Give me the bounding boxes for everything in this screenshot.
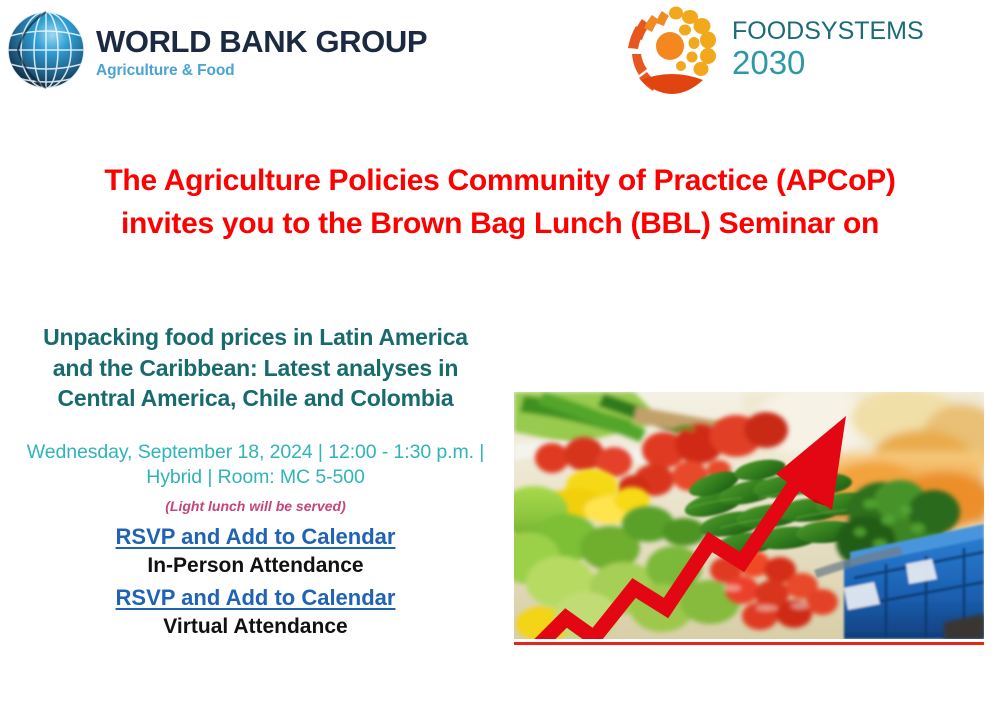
header-logos: WORLD BANK GROUP Agriculture & Food <box>0 0 1000 112</box>
rsvp-link-in-person[interactable]: RSVP and Add to Calendar <box>8 524 503 551</box>
seminar-title: Unpacking food prices in Latin America a… <box>8 322 503 414</box>
world-bank-globe-icon <box>4 6 88 94</box>
world-bank-group-logo: WORLD BANK GROUP Agriculture & Food <box>4 6 427 94</box>
headline-line-2: invites you to the Brown Bag Lunch (BBL)… <box>0 203 1000 246</box>
rsvp-option-virtual: RSVP and Add to Calendar Virtual Attenda… <box>8 585 503 640</box>
world-bank-title: WORLD BANK GROUP <box>96 26 427 57</box>
seminar-details: Unpacking food prices in Latin America a… <box>8 322 503 640</box>
market-vegetables-rising-price-arrow-photo <box>514 392 984 645</box>
rsvp-link-virtual[interactable]: RSVP and Add to Calendar <box>8 585 503 612</box>
rsvp-option-in-person: RSVP and Add to Calendar In-Person Atten… <box>8 524 503 579</box>
rsvp-caption-in-person: In-Person Attendance <box>8 552 503 579</box>
foodsystems-2030-logo: FoodSystems 2030 <box>622 4 924 100</box>
headline-line-1: The Agriculture Policies Community of Pr… <box>0 160 1000 203</box>
seminar-logistics: Wednesday, September 18, 2024 | 12:00 - … <box>8 440 503 491</box>
world-bank-wordmark: WORLD BANK GROUP Agriculture & Food <box>96 22 427 79</box>
foodsystems-wordmark: FoodSystems 2030 <box>732 4 924 79</box>
lunch-note: (Light lunch will be served) <box>8 498 503 515</box>
invitation-headline: The Agriculture Policies Community of Pr… <box>0 160 1000 245</box>
rsvp-caption-virtual: Virtual Attendance <box>8 613 503 640</box>
foodsystems-sun-bowl-icon <box>622 4 722 100</box>
foodsystems-name: FoodSystems <box>732 10 924 44</box>
foodsystems-year: 2030 <box>732 46 924 79</box>
world-bank-subtitle: Agriculture & Food <box>96 63 427 79</box>
